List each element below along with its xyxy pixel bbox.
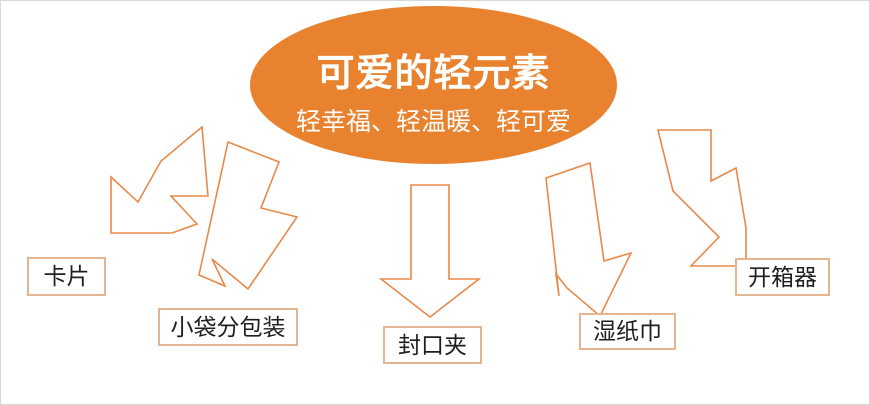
hero-subtitle: 轻幸福、轻温暖、轻可爱: [296, 107, 571, 137]
hero-title: 可爱的轻元素: [316, 55, 550, 95]
node-box-small-bag[interactable]: 小袋分包装: [158, 308, 298, 346]
node-box-wet-wipes[interactable]: 湿纸巾: [579, 313, 676, 350]
hero-ellipse: 可爱的轻元素 轻幸福、轻温暖、轻可爱: [250, 6, 617, 164]
node-label: 卡片: [44, 265, 90, 288]
arrow-to-box-cutter-icon: [658, 130, 746, 266]
node-box-seal-clip[interactable]: 封口夹: [383, 326, 482, 364]
arrow-to-small-bag-icon: [199, 142, 297, 289]
node-label: 湿纸巾: [593, 320, 662, 343]
arrow-to-seal-clip-icon: [381, 185, 479, 317]
node-label: 开箱器: [748, 266, 817, 289]
node-box-box-cutter[interactable]: 开箱器: [735, 258, 830, 296]
arrow-to-wet-wipes-icon: [546, 163, 631, 316]
node-label: 小袋分包装: [171, 316, 286, 339]
node-label: 封口夹: [398, 334, 467, 357]
node-box-card[interactable]: 卡片: [27, 257, 106, 296]
arrow-to-card-icon: [111, 127, 208, 233]
infographic-canvas: 可爱的轻元素 轻幸福、轻温暖、轻可爱 卡片 小袋分包装 封口夹 湿纸巾 开箱器: [0, 0, 870, 405]
